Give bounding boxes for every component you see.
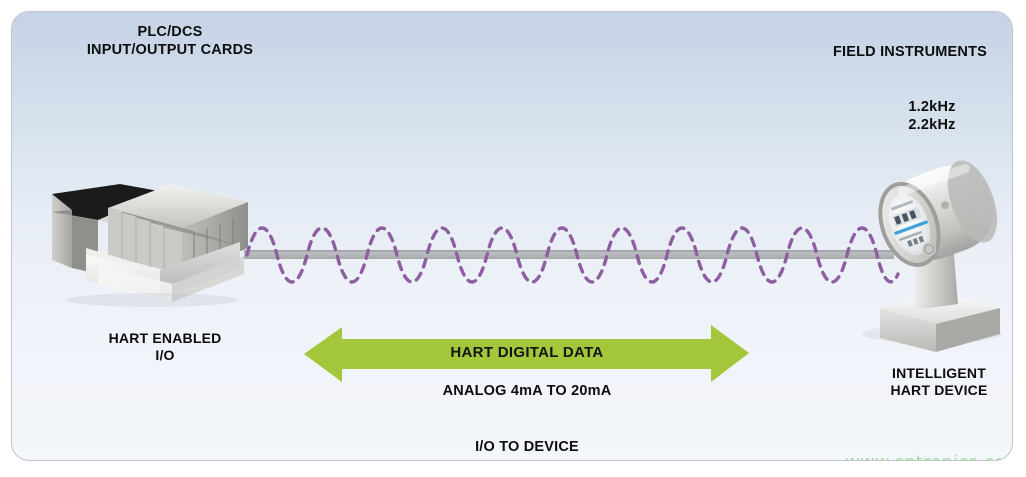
label-hart-enabled-io: HART ENABLED I/O (60, 330, 270, 364)
label-hart-frequencies: 1.2kHz 2.2kHz (852, 99, 1012, 134)
watermark-url: www.cntronics.com (845, 452, 1013, 461)
label-plc-dcs-io-cards: PLC/DCS INPUT/OUTPUT CARDS (50, 24, 290, 59)
diagram-panel: PLC/DCS INPUT/OUTPUT CARDS FIELD INSTRUM… (11, 11, 1013, 461)
label-hart-digital-data: HART DIGITAL DATA (322, 344, 732, 361)
plc-io-rack-icon (52, 184, 248, 307)
diagram-canvas: PLC/DCS INPUT/OUTPUT CARDS FIELD INSTRUM… (0, 0, 1026, 477)
label-io-to-device: I/O TO DEVICE (322, 439, 732, 457)
analog-signal-line (244, 250, 894, 259)
label-field-instruments: FIELD INSTRUMENTS (800, 44, 1013, 62)
label-intelligent-hart-device: INTELLIGENT HART DEVICE (844, 365, 1013, 399)
label-analog-4-20ma: ANALOG 4mA TO 20mA (322, 383, 732, 401)
